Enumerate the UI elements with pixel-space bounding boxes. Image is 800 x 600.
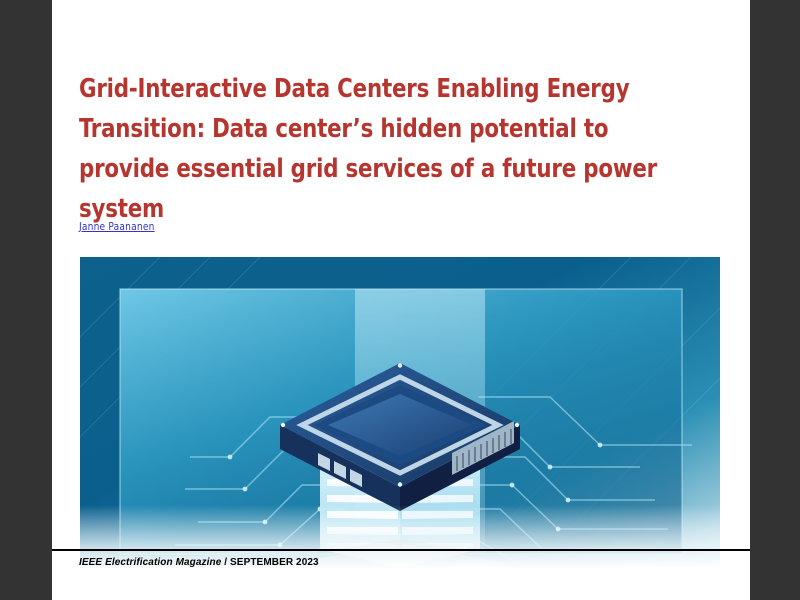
footer-magazine-name: IEEE Electrification Magazine xyxy=(79,557,221,568)
hero-illustration xyxy=(80,257,720,568)
left-margin xyxy=(0,0,52,600)
slide-canvas: Grid-Interactive Data Centers Enabling E… xyxy=(0,0,800,600)
footer-separator: / xyxy=(221,557,230,568)
footer-divider xyxy=(48,549,750,551)
document-page: Grid-Interactive Data Centers Enabling E… xyxy=(52,0,750,600)
footer-citation: IEEE Electrification Magazine / SEPTEMBE… xyxy=(79,557,319,568)
hero-image xyxy=(80,257,720,568)
right-margin xyxy=(750,0,800,600)
footer-background xyxy=(52,568,750,600)
footer-issue-date: SEPTEMBER 2023 xyxy=(230,557,319,568)
page-title: Grid-Interactive Data Centers Enabling E… xyxy=(79,69,684,229)
author-link[interactable]: Janne Paananen xyxy=(79,220,155,233)
